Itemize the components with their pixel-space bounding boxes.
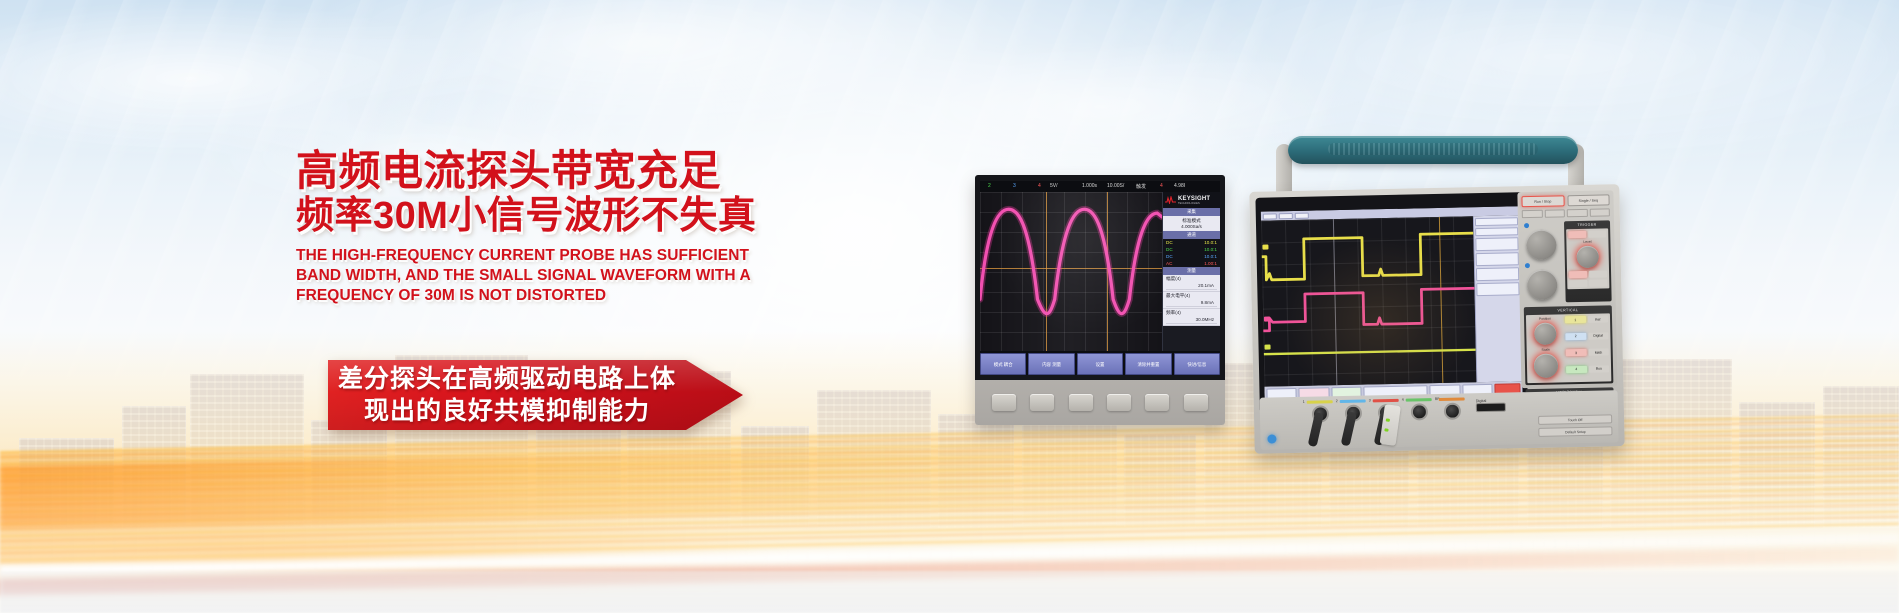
ch2-label: 2 — [1336, 399, 1338, 403]
oscilloscope-photo-group: 2 3 4 5V/ 1.000s 10.00S/ 触发 4 4.98I — [940, 130, 1640, 460]
carry-handle[interactable] — [1288, 136, 1578, 164]
knob-and-trigger-area: TRIGGER Level — [1522, 220, 1612, 303]
hardkey-2[interactable] — [1030, 394, 1054, 411]
toolbar-button[interactable] — [1263, 213, 1277, 219]
softkey-4[interactable]: 快进/信息 — [1174, 353, 1220, 375]
power-button[interactable] — [1267, 434, 1276, 443]
red-ribbon-callout: 差分探头在高频驱动电路上体 现出的良好共模抑制能力 — [328, 360, 743, 430]
headline-line-1: 高频电流探头带宽充足 — [296, 148, 766, 194]
knob-led-b — [1525, 263, 1530, 268]
tek-bottom-button-stack: Touch Off Default Setup — [1538, 414, 1612, 440]
cursor-b — [1107, 192, 1108, 351]
ch3-label: 3 — [1369, 398, 1371, 402]
topbar-ch4: 4 — [1038, 183, 1041, 189]
softkey-1[interactable]: 内容 测量 — [1028, 353, 1074, 375]
keysight-oscilloscope: 2 3 4 5V/ 1.000s 10.00S/ 触发 4 4.98I — [975, 175, 1225, 425]
chan-row: DC 10.0:1 — [1163, 239, 1220, 246]
keysight-wave-mark — [1165, 196, 1176, 204]
hardkey-5[interactable] — [1145, 394, 1169, 411]
meas-value: 30.0MHz — [1166, 316, 1217, 324]
meas-label: 最大电平(4) — [1166, 293, 1190, 298]
hardkey-3[interactable] — [1069, 394, 1093, 411]
mini-button-row — [1522, 208, 1610, 218]
acq-values: 标准模式 4.000Sa/s — [1163, 216, 1220, 231]
keysight-status-bar: 2 3 4 5V/ 1.000s 10.00S/ 触发 4 4.98I — [980, 181, 1220, 192]
tektronix-screen[interactable] — [1261, 206, 1523, 408]
channel-2-input[interactable]: 2 — [1340, 400, 1366, 423]
ch2-cable — [1341, 411, 1357, 446]
meas-list: 幅度(4) 20.1mA 最大电平(4) 9.8mA 频率(4) 30.0MHz — [1163, 275, 1220, 326]
ribbon-line-2: 现出的良好共模抑制能力 — [364, 395, 650, 427]
meas-label: 频率(4) — [1166, 310, 1181, 315]
mini-button[interactable] — [1589, 208, 1610, 216]
channel-2-button[interactable]: 2 — [1565, 332, 1586, 339]
keysight-hardkey-row — [975, 380, 1225, 425]
trigger-section: TRIGGER Level — [1564, 220, 1612, 302]
tektronix-oscilloscope: Tektronix 3 SERIES MIXED DOMAIN OSCILLOS… — [1230, 130, 1630, 460]
topbar-ch3: 3 — [1013, 183, 1016, 189]
keysight-sine-waveform — [980, 192, 1162, 336]
digital-port-icon — [1476, 403, 1506, 413]
digital-port-group[interactable]: Digital — [1476, 397, 1506, 413]
toolbar-button[interactable] — [1295, 212, 1309, 218]
trigger-force-button[interactable] — [1568, 231, 1586, 238]
keysight-brand-sub: TECHNOLOGIES — [1178, 202, 1210, 205]
keysight-bezel: 2 3 4 5V/ 1.000s 10.00S/ 触发 4 4.98I — [975, 175, 1225, 380]
meas-header: 测量 — [1163, 267, 1220, 275]
ref-button[interactable]: Ref — [1587, 315, 1608, 322]
side-badge[interactable] — [1475, 227, 1518, 236]
vertical-body: Position Scale 1 Ref 2 Digital — [1526, 313, 1611, 383]
channel-4-input[interactable]: 4 — [1406, 398, 1432, 421]
single-seq-button[interactable]: Single / Seq — [1567, 194, 1610, 206]
ribbon-text: 差分探头在高频驱动电路上体 现出的良好共模抑制能力 — [328, 360, 686, 430]
meas-item: 幅度(4) 20.1mA — [1163, 275, 1220, 292]
mini-button[interactable] — [1544, 209, 1565, 217]
tek-cursor-b — [1439, 217, 1443, 383]
headline-line-2: 频率30M小信号波形不失真 — [296, 194, 766, 238]
tektronix-chassis: Tektronix 3 SERIES MIXED DOMAIN OSCILLOS… — [1249, 184, 1624, 454]
default-setup-button[interactable]: Default Setup — [1538, 426, 1612, 437]
chan-coupling: AC — [1166, 260, 1172, 267]
meas-label: 幅度(4) — [1166, 276, 1181, 281]
trigger-mode-button[interactable] — [1588, 230, 1606, 237]
ribbon-line-1: 差分探头在高频驱动电路上体 — [338, 363, 676, 395]
vertical-scale-label: Scale — [1529, 347, 1563, 352]
mini-button[interactable] — [1567, 209, 1588, 217]
multipurpose-knob-b[interactable] — [1527, 269, 1558, 300]
english-subtitle: THE HIGH-FREQUENCY CURRENT PROBE HAS SUF… — [296, 246, 754, 306]
headline-block: 高频电流探头带宽充足 频率30M小信号波形不失真 THE HIGH-FREQUE… — [296, 148, 766, 306]
tek-waveforms — [1261, 216, 1476, 379]
ch1-marker — [1262, 245, 1268, 250]
multipurpose-knob-a[interactable] — [1526, 229, 1557, 260]
chan-row: DC 10.0:1 — [1163, 246, 1220, 253]
chan-rows: DC 10.0:1 DC 10.0:1 DC 10.0:1 — [1163, 239, 1220, 267]
topbar-ch2: 2 — [988, 183, 991, 189]
keysight-plot-area: KEYSIGHT TECHNOLOGIES 采集 标准模式 4.000Sa/s … — [980, 192, 1220, 351]
side-badge[interactable] — [1475, 217, 1518, 226]
probe-led-b — [1384, 428, 1388, 432]
cursor-a — [1046, 192, 1047, 351]
side-badge[interactable] — [1476, 267, 1519, 281]
softkey-3[interactable]: 清除并重置 — [1125, 353, 1171, 375]
trigger-body: Level — [1566, 228, 1609, 289]
hardkey-6[interactable] — [1184, 394, 1208, 411]
rf-bnc-icon — [1443, 403, 1460, 420]
chan-value: 10.0:1 — [1204, 239, 1217, 246]
topbar-trig-level: 4.98I — [1174, 183, 1185, 189]
tektronix-bezel — [1255, 192, 1527, 414]
ch2-marker — [1264, 316, 1270, 321]
chan-value: 10.0:1 — [1204, 253, 1217, 260]
cursor-ground — [980, 268, 1162, 269]
trigger-aux-button[interactable] — [1569, 271, 1587, 278]
tek-cursor-a — [1333, 219, 1337, 385]
keysight-side-panel: KEYSIGHT TECHNOLOGIES 采集 标准模式 4.000Sa/s … — [1162, 192, 1220, 351]
chan-coupling: DC — [1166, 253, 1173, 260]
chan-coupling: DC — [1166, 246, 1173, 253]
keysight-softkey-row: 模式 耦合 内容 测量 设置 清除并重置 快进/信息 — [980, 353, 1220, 375]
tek-side-badges[interactable] — [1473, 215, 1522, 382]
promo-banner: 高频电流探头带宽充足 频率30M小信号波形不失真 THE HIGH-FREQUE… — [0, 0, 1899, 613]
chan-value: 1.00:1 — [1204, 260, 1217, 267]
probe-led-a — [1386, 418, 1390, 422]
keysight-logo: KEYSIGHT TECHNOLOGIES — [1163, 192, 1220, 208]
ch4-label: 4 — [1402, 398, 1404, 402]
topbar-trig-ch: 4 — [1160, 183, 1163, 189]
ch3-marker — [1264, 344, 1270, 349]
trigger-set-button[interactable] — [1589, 279, 1607, 286]
bottom-white-veil — [0, 466, 1899, 613]
vertical-scale-knob[interactable] — [1534, 353, 1558, 377]
tek-plot-area — [1261, 215, 1522, 386]
multipurpose-knob-column — [1522, 221, 1562, 303]
rf-input[interactable]: RF — [1439, 397, 1465, 420]
softkey-0[interactable]: 模式 耦合 — [980, 353, 1026, 375]
topbar-vdiv: 5V/ — [1050, 183, 1058, 189]
hardkey-4[interactable] — [1107, 394, 1131, 411]
trigger-title: TRIGGER — [1566, 222, 1608, 227]
ch1-label: 1 — [1303, 400, 1305, 404]
channel-4-button[interactable]: 4 — [1566, 365, 1587, 372]
chan-coupling: DC — [1166, 239, 1173, 246]
softkey-2[interactable]: 设置 — [1077, 353, 1123, 375]
rf-label: RF — [1435, 397, 1440, 401]
digital-button[interactable]: Digital — [1588, 332, 1609, 339]
keysight-brand-text: KEYSIGHT — [1178, 196, 1210, 202]
acq-header: 采集 — [1163, 208, 1220, 216]
topbar-mode: 触发 — [1136, 183, 1146, 190]
topbar-tdiv: 1.000s — [1082, 183, 1097, 189]
hardkey-1[interactable] — [992, 394, 1016, 411]
keysight-graticule — [980, 192, 1162, 351]
mini-button[interactable] — [1522, 210, 1543, 218]
chan-header: 通道 — [1163, 231, 1220, 239]
meas-value: 9.8mA — [1166, 299, 1217, 307]
toolbar-button[interactable] — [1279, 212, 1293, 218]
channel-1-button[interactable]: 1 — [1565, 316, 1586, 323]
tek-connector-strip: 1 2 3 — [1260, 390, 1619, 449]
topbar-sample: 10.00S/ — [1107, 183, 1124, 189]
chan-value: 10.0:1 — [1204, 246, 1217, 253]
ch4-bnc-icon — [1410, 403, 1427, 420]
side-badge[interactable] — [1476, 252, 1519, 266]
keysight-screen: 2 3 4 5V/ 1.000s 10.00S/ 触发 4 4.98I — [980, 181, 1220, 375]
run-control-row: Run / Stop Single / Seq — [1521, 194, 1609, 207]
meas-item: 最大电平(4) 9.8mA — [1163, 292, 1220, 309]
side-badge[interactable] — [1476, 282, 1519, 296]
bus-button[interactable]: Bus — [1589, 365, 1610, 372]
trigger-level-knob[interactable] — [1577, 246, 1599, 268]
knob-led-a — [1524, 223, 1529, 228]
vertical-title: VERTICAL — [1526, 307, 1610, 313]
touch-off-button[interactable]: Touch Off — [1538, 414, 1612, 425]
meas-value: 20.1mA — [1166, 282, 1217, 290]
ch1-cable — [1308, 412, 1324, 447]
run-stop-button[interactable]: Run / Stop — [1521, 195, 1564, 207]
math-button[interactable]: Math — [1588, 348, 1609, 355]
channel-1-input[interactable]: 1 — [1307, 400, 1333, 423]
meas-item: 频率(4) 30.0MHz — [1163, 309, 1220, 326]
trigger-level-label: Level — [1568, 239, 1606, 244]
chan-row: DC 10.0:1 — [1163, 253, 1220, 260]
vertical-section: VERTICAL Position Scale 1 — [1524, 305, 1614, 385]
tek-graticule — [1261, 216, 1476, 386]
acq-rate: 4.000Sa/s — [1166, 224, 1217, 229]
tek-control-panel: Run / Stop Single / Seq — [1517, 190, 1617, 388]
vertical-position-label: Position — [1528, 316, 1562, 321]
vertical-position-knob[interactable] — [1534, 323, 1556, 345]
trigger-menu-button[interactable] — [1569, 280, 1587, 287]
chan-row: AC 1.00:1 — [1163, 260, 1220, 267]
side-badge[interactable] — [1475, 237, 1518, 251]
channel-3-button[interactable]: 3 — [1566, 349, 1587, 356]
trigger-slope-button[interactable] — [1589, 270, 1607, 277]
